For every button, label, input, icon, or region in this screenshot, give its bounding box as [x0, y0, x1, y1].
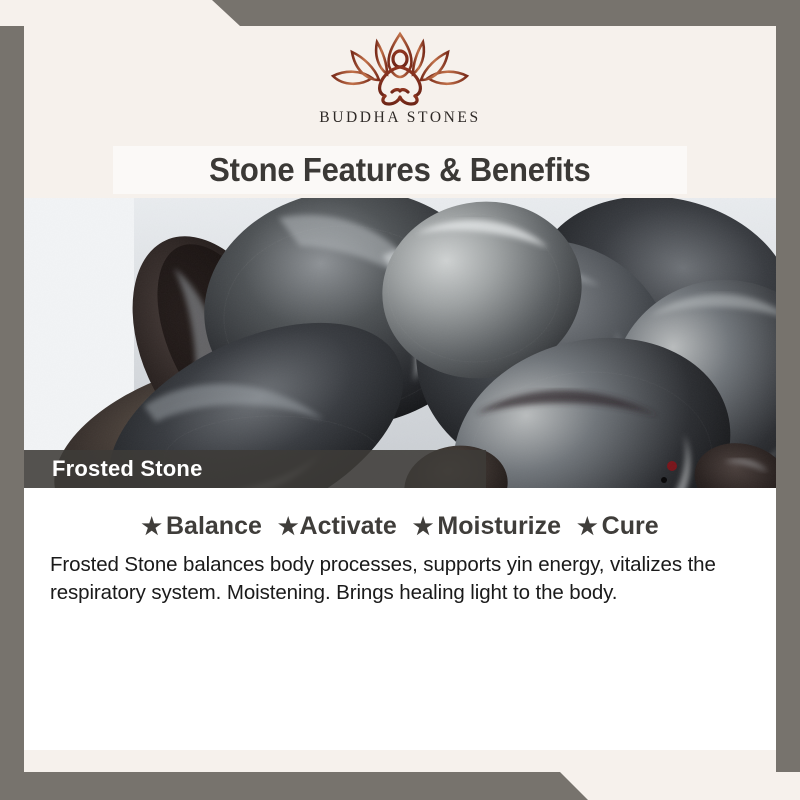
- frame-chamfer-top-left: [0, 0, 240, 26]
- lotus-meditation-icon: [325, 30, 475, 108]
- benefits-list: ★ Balance ★ Activate ★ Moisturize ★ Cure: [24, 512, 776, 541]
- benefit-item-balance: ★ Balance: [141, 512, 262, 541]
- photo-caption-strip: Frosted Stone: [24, 450, 486, 488]
- benefit-item-activate: ★ Activate: [278, 512, 397, 541]
- frosted-stone-photo: Frosted Stone: [24, 198, 776, 488]
- page-title: Stone Features & Benefits: [209, 151, 590, 189]
- brand-header: BUDDHA STONES: [24, 26, 776, 142]
- star-icon: ★: [141, 515, 162, 538]
- poster-card: BUDDHA STONES Stone Features & Benefits: [24, 26, 776, 772]
- benefit-label: Activate: [300, 512, 397, 541]
- stone-name-label: Frosted Stone: [52, 456, 203, 482]
- star-icon: ★: [278, 515, 299, 538]
- poster-root: BUDDHA STONES Stone Features & Benefits: [0, 0, 800, 800]
- benefit-label: Balance: [166, 512, 262, 541]
- benefit-item-cure: ★ Cure: [577, 512, 659, 541]
- brand-name: BUDDHA STONES: [319, 109, 480, 127]
- benefits-section: ★ Balance ★ Activate ★ Moisturize ★ Cure…: [24, 488, 776, 750]
- star-icon: ★: [413, 515, 434, 538]
- benefit-label: Cure: [602, 512, 659, 541]
- title-band: Stone Features & Benefits: [113, 146, 687, 194]
- star-icon: ★: [577, 515, 598, 538]
- benefit-label: Moisturize: [437, 512, 561, 541]
- stone-description: Frosted Stone balances body processes, s…: [50, 551, 750, 607]
- frame-chamfer-bottom-right: [560, 772, 800, 800]
- benefit-item-moisturize: ★ Moisturize: [413, 512, 561, 541]
